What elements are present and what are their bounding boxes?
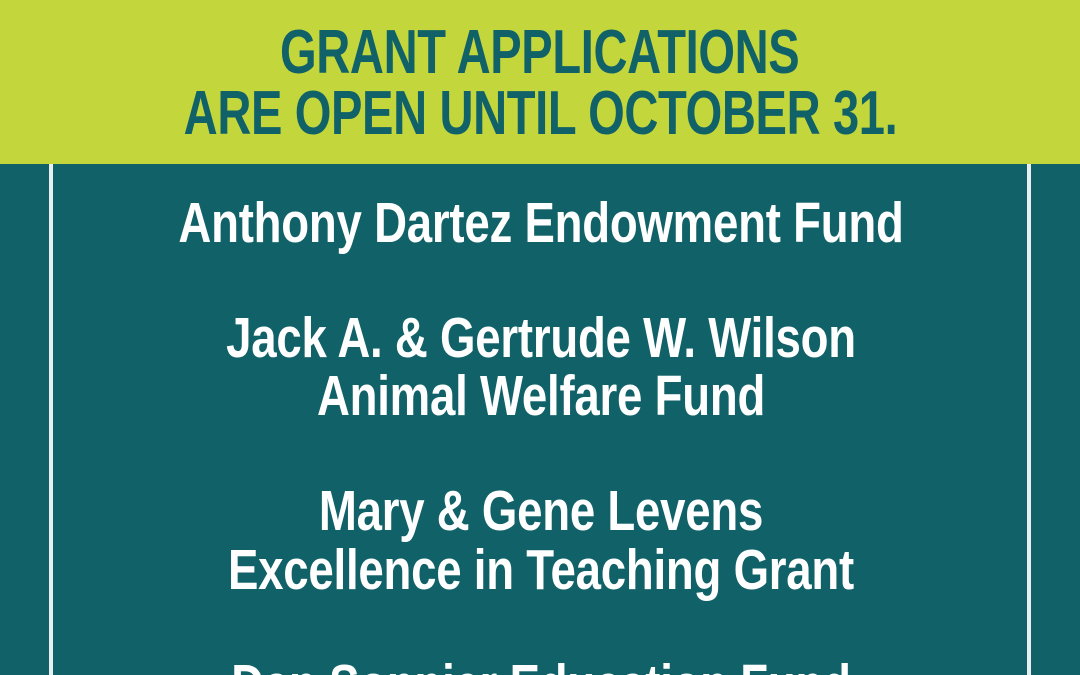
fund-entry: Anthony Dartez Endowment Fund: [63, 194, 1019, 253]
right-vertical-rule: [1027, 164, 1031, 675]
fund-name-line: Anthony Dartez Endowment Fund: [159, 194, 924, 253]
grant-announcement-poster: GRANT APPLICATIONS ARE OPEN UNTIL OCTOBE…: [0, 0, 1080, 675]
headline-line-2: ARE OPEN UNTIL OCTOBER 31.: [183, 84, 897, 145]
fund-entry: Mary & Gene Levens Excellence in Teachin…: [63, 482, 1019, 599]
fund-name-line: Jack A. & Gertrude W. Wilson: [159, 309, 924, 368]
header-banner: GRANT APPLICATIONS ARE OPEN UNTIL OCTOBE…: [0, 0, 1080, 164]
headline-line-1: GRANT APPLICATIONS: [280, 23, 799, 84]
fund-name-line: Dan Sonnier Education Fund: [159, 656, 924, 675]
fund-name-line: Mary & Gene Levens: [159, 482, 924, 541]
fund-entry: Jack A. & Gertrude W. Wilson Animal Welf…: [63, 309, 1019, 426]
fund-name-line: Excellence in Teaching Grant: [159, 541, 924, 600]
left-vertical-rule: [49, 164, 53, 675]
fund-entry: Dan Sonnier Education Fund: [63, 656, 1019, 675]
fund-name-line: Animal Welfare Fund: [159, 367, 924, 426]
fund-list: Anthony Dartez Endowment Fund Jack A. & …: [55, 164, 1027, 675]
